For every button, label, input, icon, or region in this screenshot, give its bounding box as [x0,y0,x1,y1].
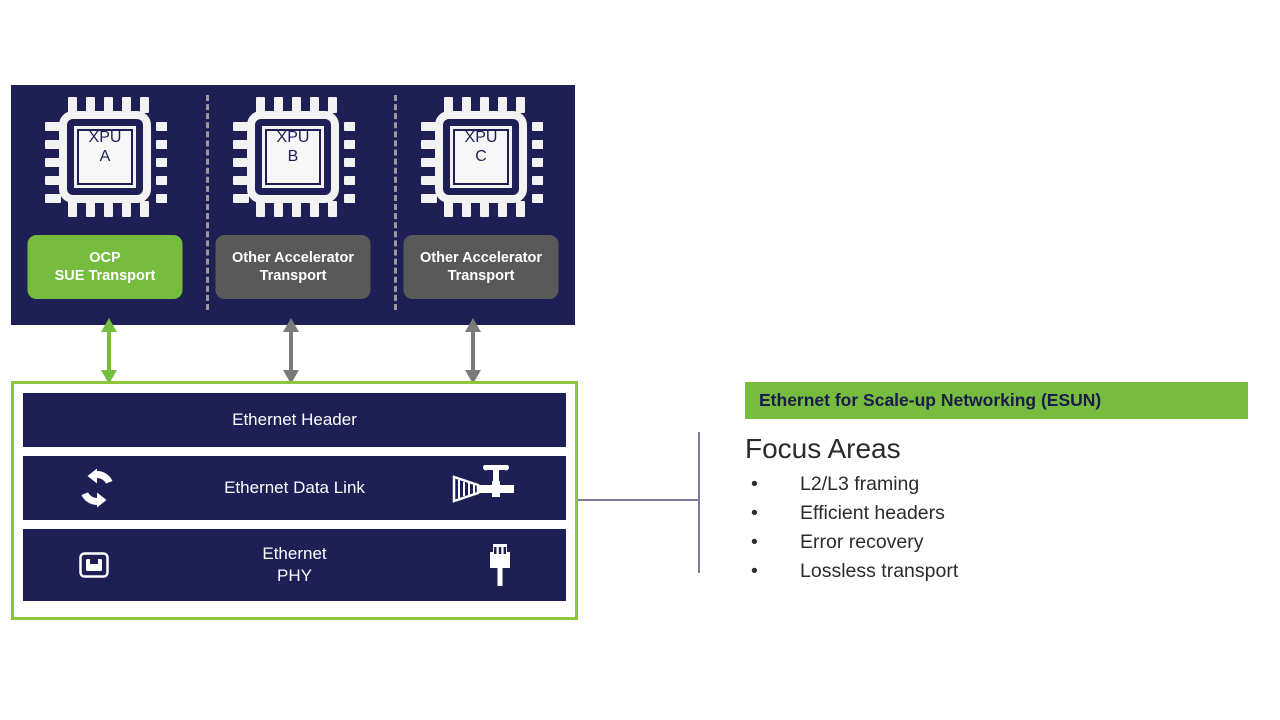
cpu-chip-icon: XPU C [419,95,543,219]
transport-label-line2: Transport [232,267,354,285]
transport-label-line1: Other Accelerator [420,249,542,267]
xpu-column-b: XPU B Other Accelerator Transport [199,85,387,325]
ethernet-datalink-label: Ethernet Data Link [224,477,365,499]
list-item: • Error recovery [745,528,1215,557]
esun-title-text: Ethernet for Scale-up Networking (ESUN) [745,390,1101,411]
bullet-glyph: • [751,528,758,557]
list-item-label: Lossless transport [800,560,958,582]
transport-label-line1: Other Accelerator [232,249,354,267]
transport-pill-ocp-sue[interactable]: OCP SUE Transport [28,235,183,299]
transceiver-module-icon [79,552,109,578]
slide-canvas: XPU A OCP SUE Transport [0,0,1280,720]
connector-line-horizontal [578,499,700,501]
bullet-glyph: • [751,557,758,586]
focus-areas-heading: Focus Areas [745,432,901,466]
list-item-label: L2/L3 framing [800,473,919,495]
cpu-chip-icon: XPU A [43,95,167,219]
transport-pill-other-b[interactable]: Other Accelerator Transport [216,235,371,299]
transport-label-line2: Transport [420,267,542,285]
list-item: • Efficient headers [745,499,1215,528]
connector-bracket-vertical [698,432,700,573]
rj45-connector-icon [486,542,514,588]
list-item: • Lossless transport [745,557,1215,586]
sync-refresh-icon [75,466,119,510]
pipe-valve-icon [452,465,516,511]
bullet-glyph: • [751,499,758,528]
ethernet-phy-label: Ethernet PHY [262,543,326,587]
ethernet-header-row[interactable]: Ethernet Header [23,393,566,447]
list-item-label: Error recovery [800,531,924,553]
ethernet-phy-label-line2: PHY [262,565,326,587]
esun-title-bar: Ethernet for Scale-up Networking (ESUN) [745,382,1248,419]
xpu-panel: XPU A OCP SUE Transport [11,85,575,325]
xpu-column-a: XPU A OCP SUE Transport [11,85,199,325]
ethernet-phy-row[interactable]: Ethernet PHY [23,529,566,601]
list-item: • L2/L3 framing [745,470,1215,499]
transport-pill-other-c[interactable]: Other Accelerator Transport [404,235,559,299]
transport-label-line2: SUE Transport [55,267,156,285]
list-item-label: Efficient headers [800,502,945,524]
bullet-glyph: • [751,470,758,499]
ethernet-stack: Ethernet Header Ethernet Data Link [11,381,578,620]
cpu-chip-icon: XPU B [231,95,355,219]
double-arrow-vertical-icon [280,318,302,384]
ethernet-datalink-row[interactable]: Ethernet Data Link [23,456,566,520]
xpu-column-c: XPU C Other Accelerator Transport [387,85,575,325]
transport-label-line1: OCP [55,249,156,267]
ethernet-phy-label-line1: Ethernet [262,543,326,565]
double-arrow-vertical-icon [462,318,484,384]
focus-areas-list: • L2/L3 framing • Efficient headers • Er… [745,470,1215,586]
ethernet-header-label: Ethernet Header [232,409,357,431]
double-arrow-vertical-icon [98,318,120,384]
